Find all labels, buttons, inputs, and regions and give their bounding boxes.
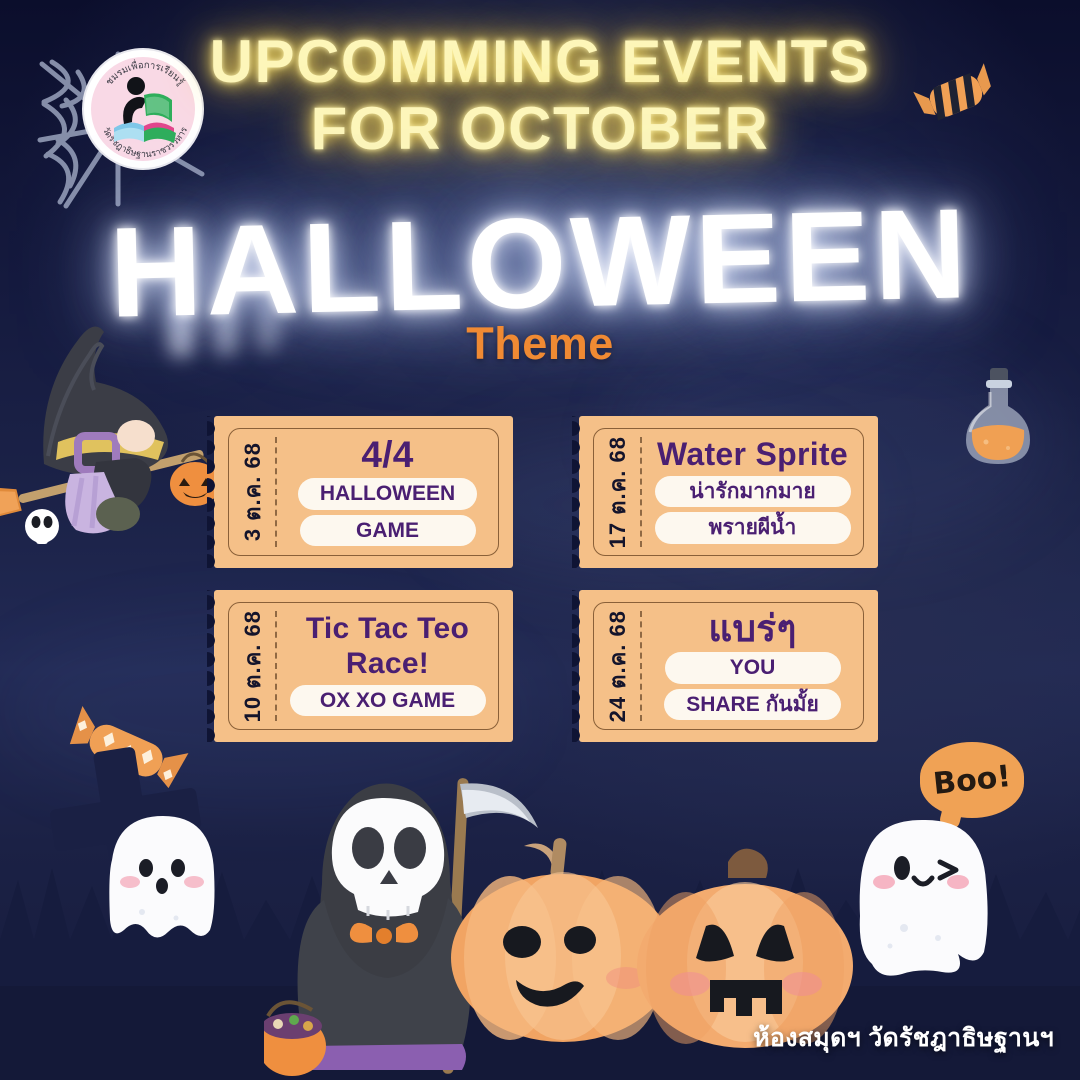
ticket-date: 24 ต.ค. 68 — [600, 610, 635, 722]
ticket-content: แบร่ๆ YOU SHARE กันมั้ย — [642, 603, 863, 729]
ticket-scallop-right — [510, 416, 520, 568]
striped-candy-icon — [908, 58, 1004, 134]
ticket-tag: SHARE กันมั้ย — [664, 689, 841, 721]
ticket-tag: HALLOWEEN — [298, 478, 477, 510]
ticket-title: Water Sprite — [657, 438, 848, 471]
events-ticket-grid: 3 ต.ค. 68 4/4 HALLOWEEN GAME 1 — [206, 416, 886, 742]
ticket-date: 10 ต.ค. 68 — [235, 610, 270, 722]
event-ticket[interactable]: 24 ต.ค. 68 แบร่ๆ YOU SHARE กันมั้ย — [571, 590, 886, 742]
boo-text: Boo! — [916, 737, 1027, 823]
boo-speech-bubble: Boo! — [920, 742, 1024, 818]
ticket-title: แบร่ๆ — [708, 610, 796, 648]
ticket-tag: พรายผีน้ำ — [655, 512, 851, 544]
ticket-perforation — [275, 437, 277, 547]
halloween-event-poster: ชมรมเพื่อการเรียนรู้ วัดรัชฎาธิษฐานราชวร… — [0, 0, 1080, 1080]
ticket-content: 4/4 HALLOWEEN GAME — [277, 429, 498, 555]
potion-bottle-icon — [952, 362, 1044, 480]
ticket-title-line-1: Tic Tac Teo — [306, 614, 469, 645]
ticket-row: 3 ต.ค. 68 4/4 HALLOWEEN GAME 1 — [206, 416, 886, 568]
ticket-date: 17 ต.ค. 68 — [600, 436, 635, 548]
ticket-scallop-right — [510, 590, 520, 742]
ghost-right-illustration — [846, 812, 1006, 982]
ticket-date-column: 17 ต.ค. 68 — [594, 429, 640, 555]
ticket-inner: 24 ต.ค. 68 แบร่ๆ YOU SHARE กันมั้ย — [593, 602, 864, 730]
ticket-content: Water Sprite น่ารักมากมาย พรายผีน้ำ — [642, 429, 863, 555]
ticket-date-column: 24 ต.ค. 68 — [594, 603, 640, 729]
ticket-scallop-right — [875, 416, 885, 568]
ticket-date-column: 3 ต.ค. 68 — [229, 429, 275, 555]
ticket-perforation — [640, 611, 642, 721]
footer-credit: ห้องสมุดฯ วัดรัชฎาธิษฐานฯ — [753, 1018, 1054, 1058]
ticket-scallop-left — [572, 416, 582, 568]
ticket-date-column: 10 ต.ค. 68 — [229, 603, 275, 729]
ticket-title-line-2: Race! — [346, 649, 429, 680]
ticket-perforation — [275, 611, 277, 721]
ticket-scallop-left — [572, 590, 582, 742]
ticket-tag: OX XO GAME — [290, 685, 486, 717]
event-ticket[interactable]: 10 ต.ค. 68 Tic Tac Teo Race! OX XO GAME — [206, 590, 521, 742]
ticket-inner: 10 ต.ค. 68 Tic Tac Teo Race! OX XO GAME — [228, 602, 499, 730]
ticket-row: 10 ต.ค. 68 Tic Tac Teo Race! OX XO GAME — [206, 590, 886, 742]
ticket-date: 3 ต.ค. 68 — [235, 442, 270, 541]
ticket-tag: YOU — [665, 652, 841, 684]
witch-gnome-illustration — [0, 296, 236, 546]
ticket-scallop-left — [207, 590, 217, 742]
ghost-left-illustration — [98, 808, 228, 948]
ticket-title: 4/4 — [361, 436, 413, 474]
ticket-tag: GAME — [300, 515, 476, 547]
event-ticket[interactable]: 17 ต.ค. 68 Water Sprite น่ารักมากมาย พรา… — [571, 416, 886, 568]
ticket-tag: น่ารักมากมาย — [655, 476, 851, 508]
ticket-content: Tic Tac Teo Race! OX XO GAME — [277, 603, 498, 729]
ticket-perforation — [640, 437, 642, 547]
ticket-scallop-left — [207, 416, 217, 568]
ticket-scallop-right — [875, 590, 885, 742]
ticket-inner: 3 ต.ค. 68 4/4 HALLOWEEN GAME — [228, 428, 499, 556]
event-ticket[interactable]: 3 ต.ค. 68 4/4 HALLOWEEN GAME — [206, 416, 521, 568]
ticket-inner: 17 ต.ค. 68 Water Sprite น่ารักมากมาย พรา… — [593, 428, 864, 556]
